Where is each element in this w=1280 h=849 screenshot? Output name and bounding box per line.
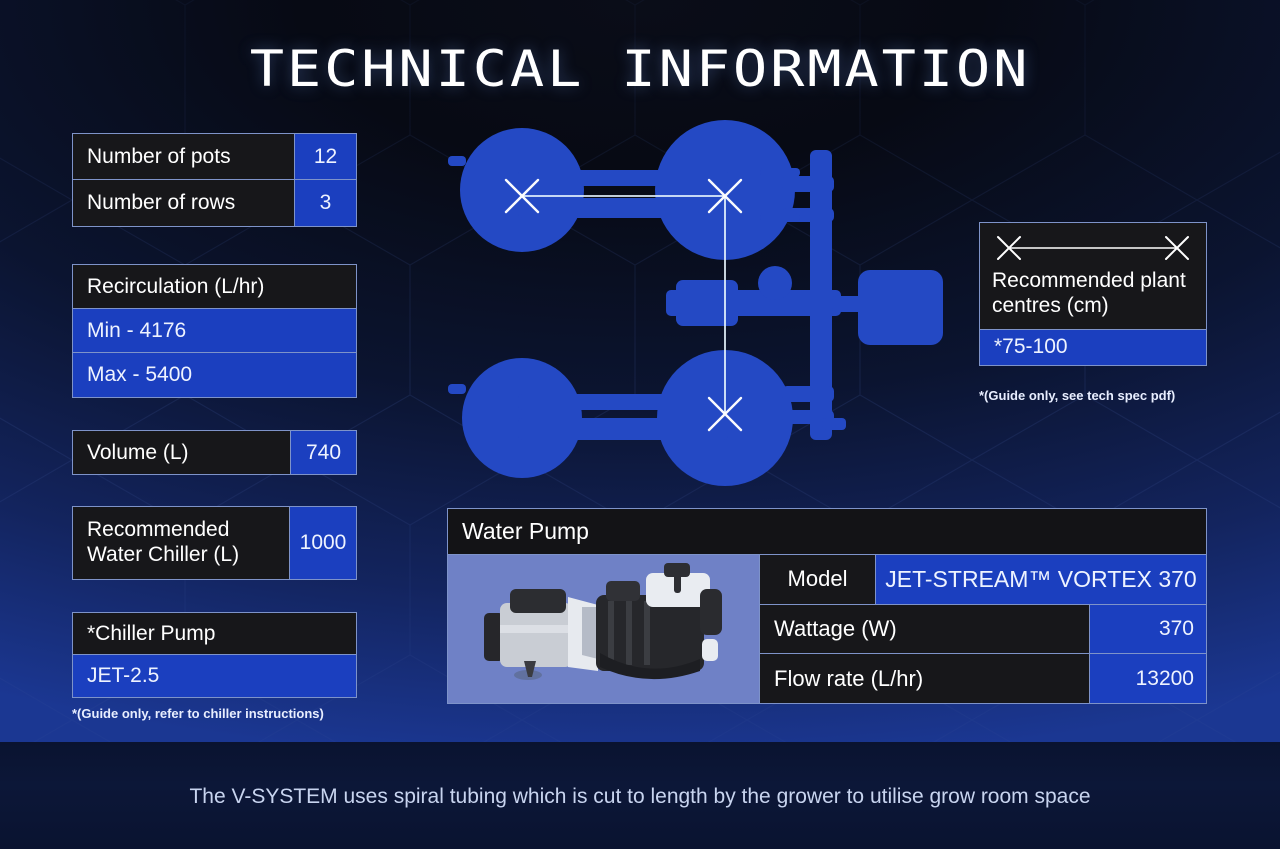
- flow-rate-value: 13200: [1089, 654, 1206, 703]
- wattage-label: Wattage (W): [760, 616, 911, 642]
- x-to-x-measure-icon: [992, 233, 1194, 263]
- v-system-layout-diagram: [430, 118, 970, 498]
- panel-water-pump: Water Pump: [447, 508, 1207, 704]
- table-row: Max - 5400: [73, 353, 356, 397]
- flow-rate-label-cell: Flow rate (L/hr): [760, 654, 1089, 703]
- model-label: Model: [774, 566, 862, 592]
- table-row: JET-2.5: [73, 655, 356, 697]
- wattage-label-cell: Wattage (W): [760, 605, 1089, 654]
- flow-rate-label: Flow rate (L/hr): [760, 666, 937, 692]
- chiller-pump-value-cell: JET-2.5: [73, 655, 356, 697]
- chiller-pump-note: *(Guide only, refer to chiller instructi…: [72, 706, 392, 721]
- table-pots-rows: Number of pots 12 Number of rows 3: [72, 133, 357, 227]
- recirculation-max: Max - 5400: [73, 363, 206, 387]
- plant-centres-note: *(Guide only, see tech spec pdf): [979, 388, 1279, 403]
- model-label-cell: Model: [760, 555, 875, 604]
- chiller-pump-header: *Chiller Pump: [73, 622, 229, 646]
- chiller-pump-header-cell: *Chiller Pump: [73, 613, 356, 654]
- rows-label: Number of rows: [73, 191, 249, 215]
- table-row: Number of pots 12: [73, 134, 356, 180]
- pots-label-cell: Number of pots: [73, 134, 294, 179]
- table-row: Min - 4176: [73, 309, 356, 353]
- wattage-value: 370: [1089, 605, 1206, 654]
- table-row: Model JET-STREAM™ VORTEX 370: [760, 555, 1206, 605]
- table-row: Flow rate (L/hr) 13200: [760, 654, 1206, 703]
- plant-centres-header-cell: Recommended plant centres (cm): [980, 223, 1206, 329]
- table-recirculation: Recirculation (L/hr) Min - 4176 Max - 54…: [72, 264, 357, 398]
- table-row: *75-100: [980, 329, 1206, 365]
- recirculation-max-cell: Max - 5400: [73, 353, 356, 397]
- recirculation-min-cell: Min - 4176: [73, 309, 356, 352]
- footer-caption: The V-SYSTEM uses spiral tubing which is…: [0, 785, 1280, 809]
- recirculation-min: Min - 4176: [73, 319, 200, 343]
- volume-label-cell: Volume (L): [73, 431, 290, 474]
- chiller-label-cell: Recommended Water Chiller (L): [73, 507, 289, 579]
- table-row: Recirculation (L/hr): [73, 265, 356, 309]
- recirculation-header: Recirculation (L/hr): [73, 275, 278, 299]
- table-row: Wattage (W) 370: [760, 605, 1206, 655]
- table-row: *Chiller Pump: [73, 613, 356, 655]
- table-chiller-pump: *Chiller Pump JET-2.5: [72, 612, 357, 698]
- plant-centres-value: *75-100: [980, 335, 1082, 359]
- volume-label: Volume (L): [73, 441, 203, 465]
- table-volume: Volume (L) 740: [72, 430, 357, 475]
- table-row: Number of rows 3: [73, 180, 356, 226]
- volume-value: 740: [290, 431, 356, 474]
- table-plant-centres: Recommended plant centres (cm) *75-100: [979, 222, 1207, 366]
- model-value: JET-STREAM™ VORTEX 370: [875, 555, 1206, 604]
- water-pump-photo: [448, 555, 760, 703]
- rows-label-cell: Number of rows: [73, 180, 294, 226]
- water-pump-spec-table: Model JET-STREAM™ VORTEX 370 Wattage (W)…: [760, 555, 1206, 703]
- rows-value: 3: [294, 180, 356, 226]
- plant-centres-value-cell: *75-100: [980, 330, 1206, 365]
- water-pump-title: Water Pump: [448, 509, 1206, 555]
- table-water-chiller: Recommended Water Chiller (L) 1000: [72, 506, 357, 580]
- table-row: Recommended Water Chiller (L) 1000: [73, 507, 356, 579]
- page-title: TECHNICAL INFORMATION: [0, 40, 1280, 98]
- chiller-label: Recommended Water Chiller (L): [73, 518, 289, 568]
- table-row: Volume (L) 740: [73, 431, 356, 474]
- pots-label: Number of pots: [73, 145, 245, 169]
- chiller-value: 1000: [289, 507, 356, 579]
- pots-value: 12: [294, 134, 356, 179]
- plant-centres-header: Recommended plant centres (cm): [992, 269, 1194, 319]
- chiller-pump-value: JET-2.5: [73, 664, 173, 688]
- recirculation-header-cell: Recirculation (L/hr): [73, 265, 356, 308]
